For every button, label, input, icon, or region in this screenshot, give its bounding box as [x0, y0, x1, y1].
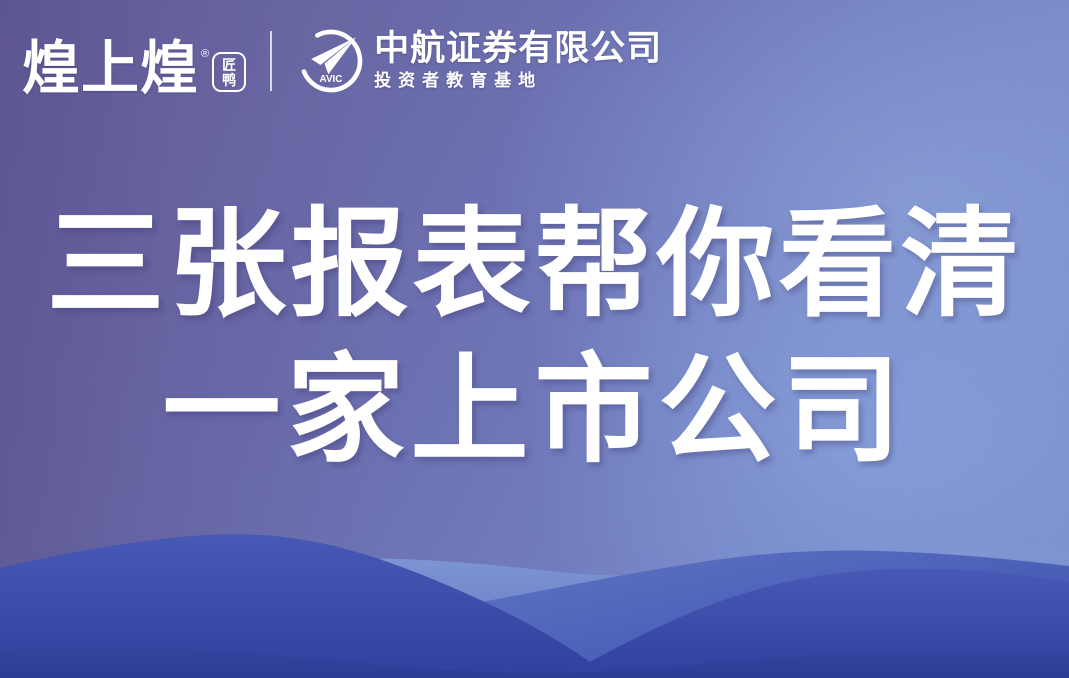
huangshanghuang-logo: 煌上煌 ® 匠 鸭 — [22, 18, 246, 104]
promo-poster: 煌上煌 ® 匠 鸭 AVIC 中航证券有限公司 投资者教育基地 — [0, 0, 1069, 678]
headline-block: 三张报表帮你看清 一家上市公司 — [0, 192, 1069, 485]
avic-securities-logo: AVIC 中航证券有限公司 投资者教育基地 — [298, 28, 662, 94]
avic-logo-text: AVIC — [320, 74, 343, 85]
lockup-divider — [270, 31, 272, 91]
headline-line-2: 一家上市公司 — [0, 338, 1069, 484]
logo-lockup: 煌上煌 ® 匠 鸭 AVIC 中航证券有限公司 投资者教育基地 — [22, 18, 662, 104]
registered-trademark-icon: ® — [201, 49, 209, 60]
avic-paper-plane-icon: AVIC — [298, 28, 364, 94]
huangshanghuang-wordmark: 煌上煌 — [22, 40, 199, 98]
jiangya-badge-char-top: 匠 — [222, 58, 236, 72]
headline-line-1: 三张报表帮你看清 — [0, 192, 1069, 338]
avic-text-block: 中航证券有限公司 投资者教育基地 — [374, 31, 662, 91]
jiangya-badge-char-bottom: 鸭 — [222, 73, 236, 87]
avic-subtitle: 投资者教育基地 — [374, 71, 662, 91]
mountain-scenery — [0, 478, 1069, 678]
avic-company-name: 中航证券有限公司 — [374, 31, 662, 68]
jiangya-badge: 匠 鸭 — [212, 52, 246, 92]
